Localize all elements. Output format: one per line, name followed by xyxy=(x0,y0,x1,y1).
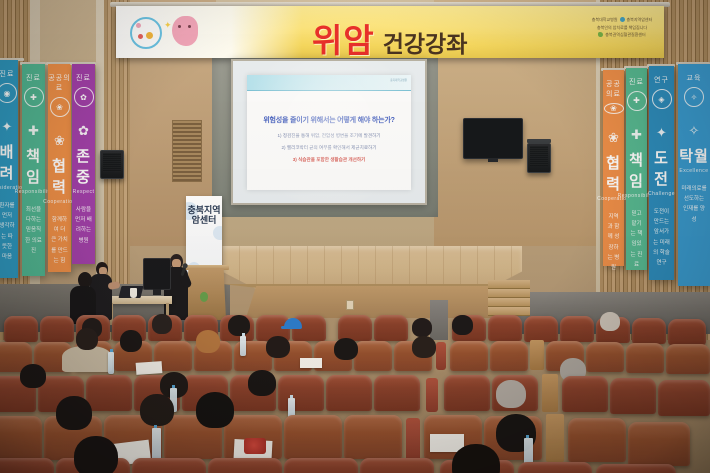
audience-head xyxy=(496,380,526,408)
wall-banner-respect: 진료 ✿ ✿ 존중 Respect 사람을 먼저 배려하는 병원 xyxy=(72,64,95,264)
seat xyxy=(374,375,420,411)
seat xyxy=(344,415,402,459)
seat xyxy=(562,376,608,412)
wall-banner-category: 진료 xyxy=(26,73,41,83)
character-eye-icon xyxy=(178,25,181,28)
aisle-wood-panel xyxy=(530,340,544,370)
seat xyxy=(596,464,676,473)
seat xyxy=(666,344,710,374)
aisle-wood-panel xyxy=(542,374,558,412)
seat xyxy=(668,319,706,345)
seat xyxy=(284,415,342,459)
seat xyxy=(450,341,488,371)
food-dot-icon xyxy=(136,23,141,28)
seat xyxy=(518,462,592,473)
seat xyxy=(326,375,372,411)
blue-cap xyxy=(284,318,302,329)
seat xyxy=(354,341,392,371)
wall-banner-desc: 도전이 만드는 앞서가는 미래의 학술 연구 xyxy=(649,207,674,268)
main-event-banner: ✦ 위암 건강강좌 충북대학교병원충북지역암센터 충북인의 암치료를 책임집니다… xyxy=(116,6,664,58)
wall-speaker-right xyxy=(527,143,551,173)
audience-head xyxy=(56,396,92,430)
seat xyxy=(86,375,132,411)
wall-banner-category: 진료 xyxy=(76,73,91,83)
seat xyxy=(490,341,528,371)
seat xyxy=(360,458,434,473)
handout-paper xyxy=(136,361,163,375)
banner-emblem-icon: ❀ xyxy=(604,103,624,114)
wall-banner-category: 연구 xyxy=(654,75,669,85)
wall-banner-english: Responsibility xyxy=(15,189,53,195)
audience-head xyxy=(248,370,276,396)
wall-banner-english: Cooperation xyxy=(43,199,76,205)
water-bottle xyxy=(152,428,161,460)
banner-glyph-icon: ✚ xyxy=(631,127,642,143)
seat xyxy=(658,380,710,416)
wall-banner-desc: 함께하여 더 큰 가치를 만드는 힘 xyxy=(48,215,71,266)
handout-paper xyxy=(300,358,322,368)
seat xyxy=(488,315,522,341)
seat xyxy=(586,342,624,372)
slide-point-1: 1) 정검진을 통해 위암, 전암성 병변을 조기에 발견하기 xyxy=(247,133,411,139)
wall-banner-desc: 최선을 다하는 믿음직한 의료진 xyxy=(22,205,45,256)
wall-banner-cooperation-left: 공공의료 ❀ ❀ 협력 Cooperation 함께하여 더 큰 가치를 만드는… xyxy=(48,64,71,272)
organizer-tertiary: 충북권역심혈관질환센터 xyxy=(605,31,645,39)
water-bottle xyxy=(240,336,246,356)
audience-head xyxy=(412,336,436,358)
organizer-mark-icon xyxy=(620,17,625,22)
organizer-primary: 충북대학교병원 xyxy=(592,16,618,24)
audience-head xyxy=(196,330,220,353)
aisle-floor xyxy=(430,300,448,340)
banner-emblem-icon: ✿ xyxy=(74,87,94,107)
banner-glyph-icon: ❀ xyxy=(54,133,65,149)
seat xyxy=(568,418,626,462)
audience-head xyxy=(334,338,358,360)
seat xyxy=(444,375,490,411)
wall-banner-desc: 믿고 맡기는 책임있는 진료 xyxy=(626,209,647,270)
projected-slide: 충북대학교병원 위험성을 줄이기 위해서는 어떻게 해야 하는가? 1) 정검진… xyxy=(233,61,425,203)
wall-banner-english: Respect xyxy=(73,189,95,195)
audience-head xyxy=(76,328,98,350)
wall-banner-category: 공공의료 xyxy=(48,73,71,93)
seat xyxy=(278,375,324,411)
wall-banner-word: 배려 xyxy=(0,141,18,183)
audience-seating xyxy=(0,300,710,473)
seat xyxy=(40,316,74,342)
confidence-monitor xyxy=(143,258,171,290)
wall-banner-word: 책임 xyxy=(22,145,45,187)
wall-banner-word: 도전 xyxy=(649,147,674,189)
banner-emblem-icon: ◈ xyxy=(652,89,672,109)
wall-banner-word: 탁월 xyxy=(679,145,709,166)
banner-glyph-icon: ✦ xyxy=(2,119,13,135)
audience-head xyxy=(452,315,473,335)
wall-banner-category: 진료 xyxy=(0,69,14,79)
food-dot-icon xyxy=(138,34,143,39)
stage-floorboards xyxy=(222,246,522,290)
wall-banner-word: 존중 xyxy=(72,145,95,187)
wall-speaker-left xyxy=(100,150,124,179)
audience-head xyxy=(196,392,234,428)
banner-glyph-icon: ✦ xyxy=(656,125,667,141)
wall-banner-consideration: 진료 ◉ ✦ 배려 Consideration 환자를 먼저 생각하는 따뜻한 … xyxy=(0,60,18,278)
wall-banner-desc: 사람을 먼저 배려하는 병원 xyxy=(72,205,95,246)
banner-glyph-icon: ✚ xyxy=(28,123,39,139)
seat xyxy=(524,316,558,342)
wall-banner-english: Challenge xyxy=(648,191,675,197)
seat xyxy=(4,316,38,342)
wall-banner-desc: 미래의료를 선도하는 인재를 양성 xyxy=(678,184,710,225)
audience-head xyxy=(600,312,620,331)
rollup-banner-text: 충북지역암센터 xyxy=(186,206,222,225)
wall-banner-english: Excellence xyxy=(679,168,708,174)
aisle-wood-panel xyxy=(546,414,564,462)
wall-banner-word: 협력 xyxy=(603,152,624,194)
seat xyxy=(610,378,656,414)
aisle-rail xyxy=(406,418,420,462)
banner-emblem-icon: ✧ xyxy=(684,87,704,107)
audience-head xyxy=(228,315,250,336)
banner-glyph-icon: ❀ xyxy=(608,130,619,146)
seat xyxy=(208,458,282,473)
wall-banner-desc: 환자를 먼저 생각하는 따뜻한 마음 xyxy=(0,201,18,262)
banner-glyph-icon: ✿ xyxy=(78,123,89,139)
audience-head xyxy=(74,436,118,473)
audience-head xyxy=(266,336,290,358)
wall-vent-grille xyxy=(172,120,202,182)
banner-emblem-icon: ❀ xyxy=(50,97,70,117)
organizer-leaf-icon xyxy=(598,32,603,37)
seat xyxy=(0,416,42,460)
audience-head xyxy=(412,318,432,337)
banner-glyph-icon: ✧ xyxy=(689,123,700,139)
wall-banner-desc: 지역과 함께 성장하는 병원 xyxy=(603,212,624,273)
sparkle-icon: ✦ xyxy=(164,20,172,31)
organizer-secondary: 충북지역암센터 xyxy=(627,16,653,24)
projection-screen: 충북대학교병원 위험성을 줄이기 위해서는 어떻게 해야 하는가? 1) 정검진… xyxy=(231,59,427,205)
wall-banner-responsibility-right: 진료 ✚ ✚ 책임 Responsibility 믿고 맡기는 책임있는 진료 xyxy=(626,68,647,270)
seat xyxy=(626,343,664,373)
audience-head xyxy=(20,364,46,388)
food-dot-icon xyxy=(146,32,153,39)
wall-banner-category: 공공의료 xyxy=(603,79,624,99)
banner-tagline: 충북인의 암치료를 책임집니다 xyxy=(568,24,676,32)
banner-organizers: 충북대학교병원충북지역암센터 충북인의 암치료를 책임집니다 충북권역심혈관질환… xyxy=(568,16,676,39)
banner-emblem-icon: ✚ xyxy=(627,91,647,111)
red-bag xyxy=(244,438,266,454)
audience-head xyxy=(152,314,172,334)
seat xyxy=(132,458,206,473)
wall-banner-category: 교육 xyxy=(687,73,702,83)
aisle-rail xyxy=(436,342,446,370)
slide-point-2: 2) 헬리코박터 균의 여부를 확인해서 제균치료하기 xyxy=(247,145,411,151)
banner-emblem-icon: ◉ xyxy=(0,83,17,103)
seat xyxy=(632,318,666,344)
seat xyxy=(628,422,690,466)
stomach-character-illustration xyxy=(172,16,198,46)
banner-title-highlight: 위암 xyxy=(312,14,375,62)
paper-cup xyxy=(130,288,137,298)
seat xyxy=(284,458,358,473)
character-eye-icon xyxy=(188,25,191,28)
slide-logo: 충북대학교병원 xyxy=(390,79,407,83)
wall-banner-category: 진료 xyxy=(629,77,644,87)
wall-banner-word: 협력 xyxy=(48,155,71,197)
banner-title: 위암 건강강좌 xyxy=(312,14,467,62)
slide-page: 충북대학교병원 위험성을 줄이기 위해서는 어떻게 해야 하는가? 1) 정검진… xyxy=(247,75,411,190)
slide-point-3: 3) 식습관을 포함한 생활습관 개선하기 xyxy=(247,157,411,163)
seat xyxy=(560,316,594,342)
wall-banner-word: 책임 xyxy=(626,149,647,191)
audience-head xyxy=(120,330,142,352)
banner-emblem-icon: ✚ xyxy=(24,87,44,107)
wall-mounted-display xyxy=(463,118,523,159)
slide-question: 위험성을 줄이기 위해서는 어떻게 해야 하는가? xyxy=(247,115,411,125)
wall-banner-excellence: 교육 ✧ ✧ 탁월 Excellence 미래의료를 선도하는 인재를 양성 xyxy=(678,64,710,286)
water-bottle xyxy=(108,352,114,374)
wall-banner-responsibility-left: 진료 ✚ ✚ 책임 Responsibility 최선을 다하는 믿음직한 의료… xyxy=(22,64,45,276)
slide-header-band xyxy=(247,75,411,91)
wall-banner-cooperation-right: 공공의료 ❀ ❀ 협력 Cooperation 지역과 함께 성장하는 병원 xyxy=(603,70,624,266)
wall-banner-challenge: 연구 ◈ ✦ 도전 Challenge 도전이 만드는 앞서가는 미래의 학술 … xyxy=(649,66,674,280)
audience-head xyxy=(140,394,174,426)
auditorium-photo: ✦ 위암 건강강좌 충북대학교병원충북지역암센터 충북인의 암치료를 책임집니다… xyxy=(0,0,710,473)
banner-title-rest: 건강강좌 xyxy=(383,25,468,59)
seat xyxy=(0,458,54,473)
aisle-rail xyxy=(426,378,438,412)
seat xyxy=(374,315,408,341)
